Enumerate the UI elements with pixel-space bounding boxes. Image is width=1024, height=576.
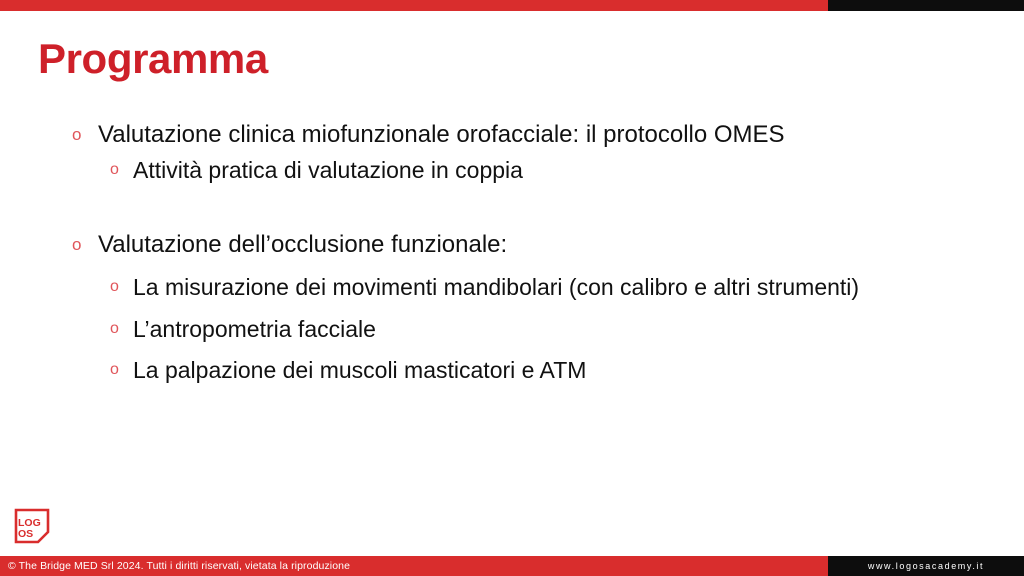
list-item-label: Valutazione clinica miofunzionale orofac… <box>98 118 998 152</box>
list-item: o L’antropometria facciale <box>110 313 1024 345</box>
bullet-circle-icon: o <box>110 271 133 302</box>
list-item-label: Valutazione dell’occlusione funzionale: <box>98 228 998 262</box>
top-accent-bar-black <box>828 0 1024 11</box>
list-item: o La palpazione dei muscoli masticatori … <box>110 354 1024 386</box>
slide-content-list: o Valutazione clinica miofunzionale orof… <box>0 118 1024 388</box>
list-spacer <box>0 188 1024 228</box>
list-item-label: La misurazione dei movimenti mandibolari… <box>133 271 913 303</box>
list-spacer <box>0 347 1024 354</box>
list-item: o Valutazione dell’occlusione funzionale… <box>72 228 1024 262</box>
list-item: o Valutazione clinica miofunzionale orof… <box>72 118 1024 152</box>
bullet-circle-icon: o <box>110 354 133 385</box>
list-item: o Attività pratica di valutazione in cop… <box>110 154 1024 186</box>
list-spacer <box>0 306 1024 313</box>
bullet-circle-icon: o <box>72 228 98 261</box>
list-spacer <box>0 264 1024 271</box>
footer-website[interactable]: www.logosacademy.it <box>828 556 1024 576</box>
top-accent-bar <box>0 0 1024 11</box>
bullet-circle-icon: o <box>110 154 133 185</box>
footer-copyright: © The Bridge MED Srl 2024. Tutti i dirit… <box>0 556 828 576</box>
list-item-label: La palpazione dei muscoli masticatori e … <box>133 354 913 386</box>
logos-logo-icon: LOG OS <box>14 508 50 545</box>
list-item-label: Attività pratica di valutazione in coppi… <box>133 154 913 186</box>
top-accent-bar-red <box>0 0 828 11</box>
bullet-circle-icon: o <box>110 313 133 344</box>
bullet-circle-icon: o <box>72 118 98 151</box>
list-item: o La misurazione dei movimenti mandibola… <box>110 271 1024 303</box>
page-title: Programma <box>38 36 268 82</box>
list-item-label: L’antropometria facciale <box>133 313 913 345</box>
logos-logo: LOG OS <box>14 508 50 545</box>
footer-bar: © The Bridge MED Srl 2024. Tutti i dirit… <box>0 556 1024 576</box>
logo-line-2: OS <box>18 528 33 540</box>
